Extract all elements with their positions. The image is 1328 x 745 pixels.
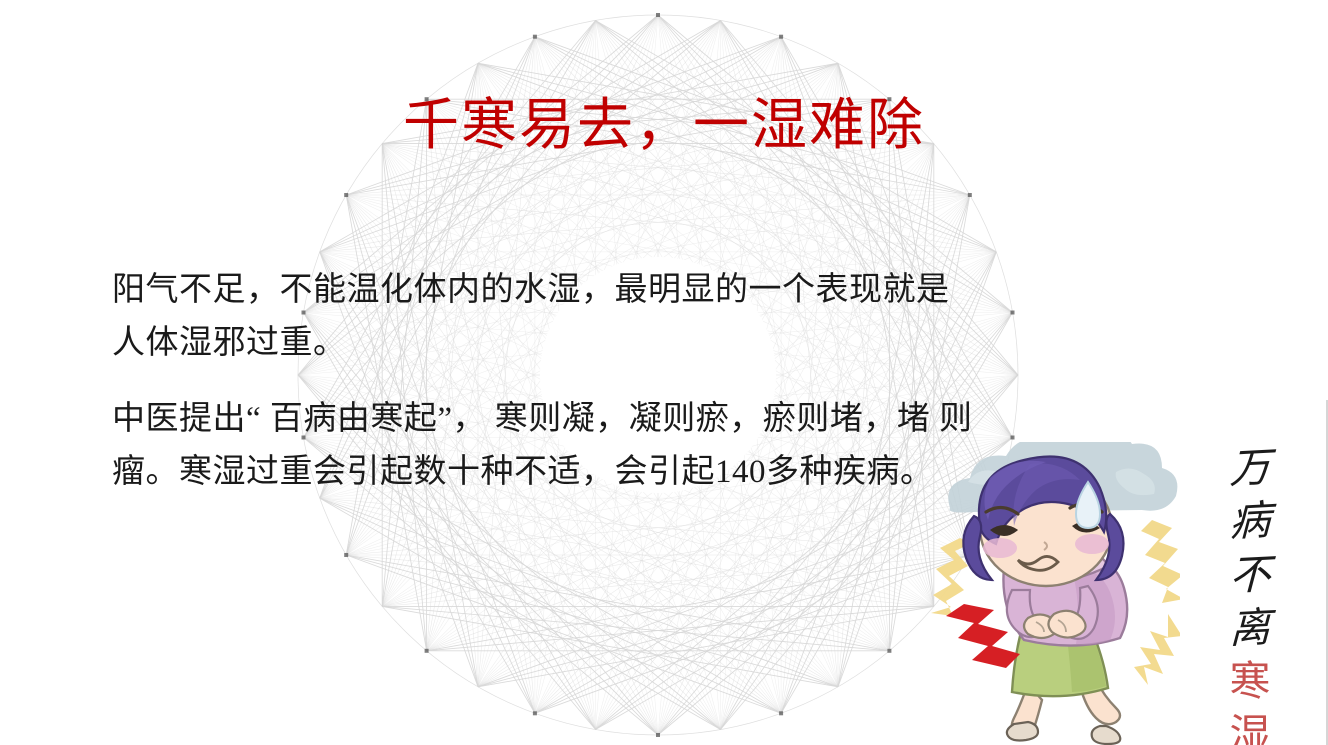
calligraphy-panel: 万 病 不 离 寒 湿	[1180, 400, 1328, 745]
paragraph-2: 中医提出“ 百病由寒起”， 寒则凝，凝则瘀，瘀则堵，堵 则瘤。寒湿过重会引起数十…	[112, 393, 982, 500]
calligraphy-vertical-text: 万 病 不 离 寒 湿	[1180, 442, 1320, 745]
calligraphy-char-3: 不	[1180, 545, 1321, 606]
paragraph-1: 阳气不足，不能温化体内的水湿，最明显的一个表现就是人体湿邪过重。	[112, 264, 982, 371]
slide-canvas: 千寒易去，一湿难除 阳气不足，不能温化体内的水湿，最明显的一个表现就是人体湿邪过…	[0, 0, 1328, 745]
cartoon-girl-stomach-pain-illustration	[920, 442, 1220, 745]
calligraphy-char-4: 离	[1180, 598, 1321, 659]
calligraphy-char-1: 万	[1180, 438, 1321, 499]
body-text-block: 阳气不足，不能温化体内的水湿，最明显的一个表现就是人体湿邪过重。 中医提出“ 百…	[112, 264, 982, 500]
page-title: 千寒易去，一湿难除	[0, 95, 1328, 158]
calligraphy-char-5: 寒	[1180, 655, 1320, 708]
calligraphy-char-6: 湿	[1180, 708, 1320, 745]
calligraphy-char-2: 病	[1180, 492, 1321, 553]
